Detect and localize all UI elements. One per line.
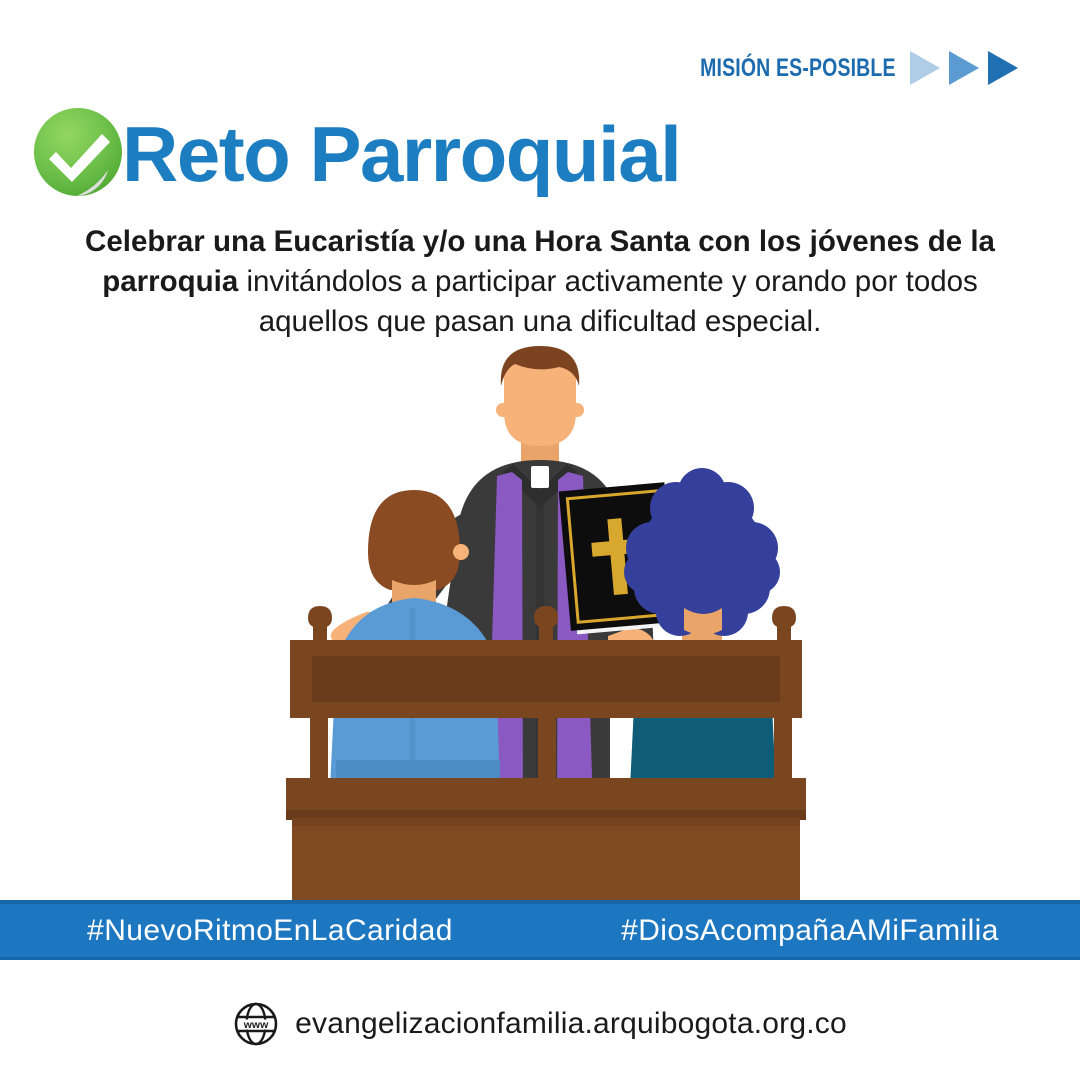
page-title-row: Reto Parroquial <box>30 96 680 208</box>
green-check-sticker-icon <box>30 104 126 200</box>
poster-canvas: MISIÓN ES-POSIBLE <box>0 0 1080 1080</box>
www-glyph-text: www <box>243 1019 269 1031</box>
arrow-icon-3 <box>988 51 1018 85</box>
www-globe-icon: www <box>233 1001 279 1047</box>
body-copy-rest: invitándolos a participar activamente y … <box>238 265 978 338</box>
church-pew <box>286 606 806 950</box>
brand-arrows <box>910 51 1018 85</box>
arrow-icon-2 <box>949 51 979 85</box>
footer-url[interactable]: evangelizacionfamilia.arquibogota.org.co <box>295 1007 847 1041</box>
illustration-priest-congregation <box>0 340 1080 960</box>
body-copy: Celebrar una Eucaristía y/o una Hora San… <box>56 222 1024 341</box>
page-title: Reto Parroquial <box>122 115 680 193</box>
arrow-icon-1 <box>910 51 940 85</box>
hashtag-banner: #NuevoRitmoEnLaCaridad #DiosAcompañaAMiF… <box>0 900 1080 960</box>
hashtag-1: #NuevoRitmoEnLaCaridad <box>0 914 540 948</box>
footer: www evangelizacionfamilia.arquibogota.or… <box>0 996 1080 1052</box>
brand-lockup: MISIÓN ES-POSIBLE <box>645 50 1018 86</box>
brand-wordmark: MISIÓN ES-POSIBLE <box>700 56 896 81</box>
hashtag-2: #DiosAcompañaAMiFamilia <box>540 914 1080 948</box>
